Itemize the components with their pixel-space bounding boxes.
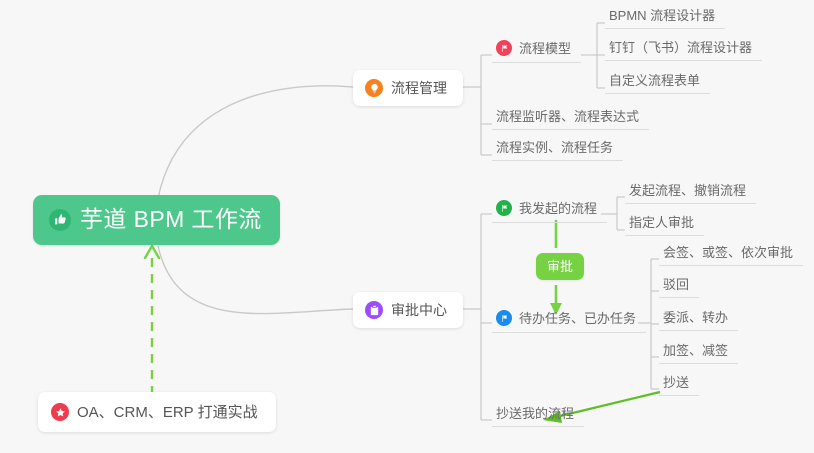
approval-arrow-tag: 审批 bbox=[536, 253, 584, 280]
node-reject[interactable]: 驳回 bbox=[659, 278, 699, 298]
node-start-cancel-process-label: 发起流程、撤销流程 bbox=[629, 184, 746, 197]
edge-root-to-process-management bbox=[158, 86, 353, 198]
flag-icon bbox=[496, 200, 512, 216]
node-add-remove-sign-label: 加签、减签 bbox=[663, 344, 728, 357]
node-delegate[interactable]: 委派、转办 bbox=[659, 311, 738, 331]
node-tasks-label: 待办任务、已办任务 bbox=[519, 312, 636, 325]
node-cc-my-processes[interactable]: 抄送我的流程 bbox=[492, 407, 584, 427]
node-my-processes-label: 我发起的流程 bbox=[519, 202, 597, 215]
node-delegate-label: 委派、转办 bbox=[663, 311, 728, 324]
node-custom-form[interactable]: 自定义流程表单 bbox=[605, 74, 710, 94]
node-process-instance-label: 流程实例、流程任务 bbox=[496, 141, 613, 154]
thumbs-up-icon bbox=[49, 209, 71, 231]
node-add-remove-sign[interactable]: 加签、减签 bbox=[659, 344, 738, 364]
branch-process-management[interactable]: 流程管理 bbox=[353, 70, 463, 106]
star-icon bbox=[51, 403, 69, 421]
node-process-model-label: 流程模型 bbox=[519, 42, 571, 55]
node-countersign-label: 会签、或签、依次审批 bbox=[663, 246, 793, 259]
node-countersign[interactable]: 会签、或签、依次审批 bbox=[659, 246, 803, 266]
bottom-node-label: OA、CRM、ERP 打通实战 bbox=[77, 405, 258, 420]
node-assignee-approval-label: 指定人审批 bbox=[629, 216, 694, 229]
node-bpmn-designer[interactable]: BPMN 流程设计器 bbox=[605, 9, 725, 29]
node-start-cancel-process[interactable]: 发起流程、撤销流程 bbox=[625, 184, 756, 204]
node-cc-label: 抄送 bbox=[663, 376, 689, 389]
branch-approval-center-label: 审批中心 bbox=[391, 303, 447, 317]
node-process-listener[interactable]: 流程监听器、流程表达式 bbox=[492, 110, 649, 130]
node-bpmn-designer-label: BPMN 流程设计器 bbox=[609, 9, 715, 22]
flag-icon bbox=[496, 40, 512, 56]
mindmap-canvas: 芋道 BPM 工作流 流程管理 流程模型 BPMN 流程设计器 钉钉（飞书）流程… bbox=[0, 0, 814, 453]
root-node[interactable]: 芋道 BPM 工作流 bbox=[33, 195, 280, 245]
edge-root-to-approval-center bbox=[158, 246, 353, 314]
node-process-instance[interactable]: 流程实例、流程任务 bbox=[492, 141, 623, 161]
flag-icon bbox=[496, 310, 512, 326]
node-assignee-approval[interactable]: 指定人审批 bbox=[625, 216, 704, 236]
node-process-model[interactable]: 流程模型 bbox=[492, 40, 581, 63]
node-dingtalk-designer[interactable]: 钉钉（飞书）流程设计器 bbox=[605, 41, 762, 61]
branch-process-management-label: 流程管理 bbox=[391, 81, 447, 95]
arrow-bottom-dashed-head bbox=[145, 246, 159, 258]
node-cc-my-processes-label: 抄送我的流程 bbox=[496, 407, 574, 420]
node-my-processes[interactable]: 我发起的流程 bbox=[492, 200, 607, 223]
lightbulb-icon bbox=[365, 79, 383, 97]
clipboard-icon bbox=[365, 301, 383, 319]
bottom-node-oa-crm-erp[interactable]: OA、CRM、ERP 打通实战 bbox=[38, 392, 276, 432]
node-reject-label: 驳回 bbox=[663, 278, 689, 291]
node-process-listener-label: 流程监听器、流程表达式 bbox=[496, 110, 639, 123]
node-dingtalk-designer-label: 钉钉（飞书）流程设计器 bbox=[609, 41, 752, 54]
branch-approval-center[interactable]: 审批中心 bbox=[353, 292, 463, 328]
root-label: 芋道 BPM 工作流 bbox=[80, 208, 262, 231]
node-custom-form-label: 自定义流程表单 bbox=[609, 74, 700, 87]
node-cc[interactable]: 抄送 bbox=[659, 376, 699, 396]
node-tasks[interactable]: 待办任务、已办任务 bbox=[492, 310, 646, 333]
